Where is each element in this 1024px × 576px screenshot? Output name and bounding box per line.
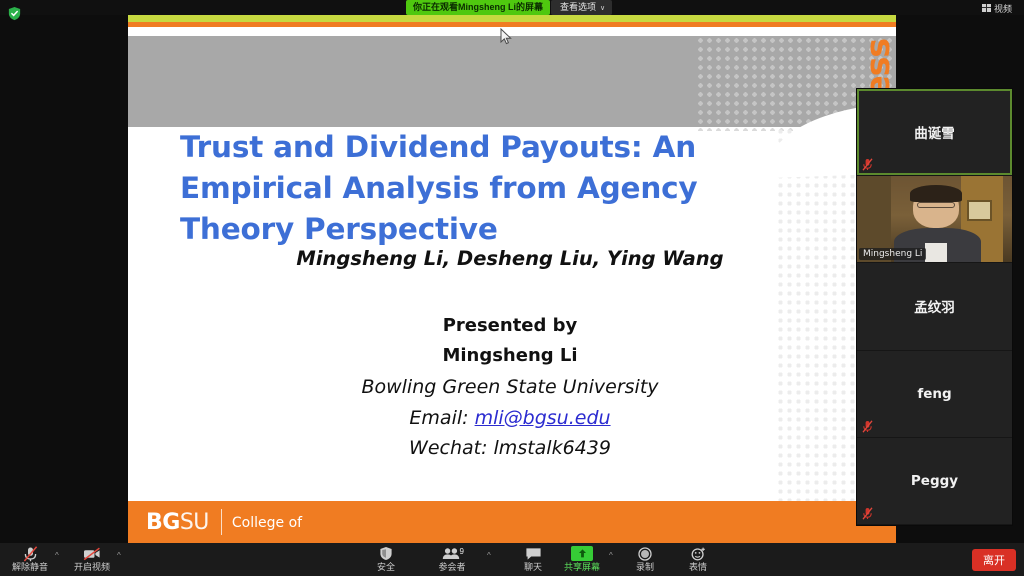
- mouse-cursor: [500, 28, 512, 46]
- bgsu-logo: BGSU: [146, 510, 209, 535]
- shared-screen-area[interactable]: beyond business Trust and Dividend Payou…: [128, 15, 896, 543]
- start-video-button[interactable]: 开启视频: [72, 546, 112, 574]
- participant-filmstrip[interactable]: 曲诞雪 Mingsheng Li: [857, 89, 1012, 525]
- presentation-slide: beyond business Trust and Dividend Payou…: [128, 15, 896, 543]
- record-circle-icon: [638, 546, 652, 561]
- top-bar: 你正在观看Mingsheng Li的屏幕 查看选项∨ 视频: [0, 0, 1024, 15]
- video-layout-label: 视频: [994, 2, 1012, 15]
- slide-title: Trust and Dividend Payouts: An Empirical…: [180, 127, 795, 250]
- participants-label: 参会者: [438, 562, 465, 572]
- record-label: 录制: [636, 562, 654, 572]
- participant-name: 曲诞雪: [914, 122, 955, 142]
- camera-off-icon: [83, 546, 101, 561]
- participant-name: feng: [917, 386, 951, 402]
- slide-presented-block: Presented by Mingsheng Li: [180, 311, 840, 371]
- video-person-hair: [910, 185, 963, 202]
- record-button[interactable]: 录制: [625, 546, 665, 574]
- leave-meeting-button[interactable]: 离开: [972, 549, 1016, 571]
- shield-icon: [379, 546, 393, 561]
- microphone-muted-icon: [862, 420, 873, 433]
- slide-white-band: [128, 27, 896, 36]
- slide-footer-bar: BGSU College of: [128, 501, 896, 543]
- share-screen-label: 共享屏幕: [564, 562, 600, 572]
- reactions-button[interactable]: 表情: [678, 546, 718, 574]
- unmute-label: 解除静音: [12, 562, 48, 572]
- slide-authors: Mingsheng Li, Desheng Liu, Ying Wang: [180, 247, 840, 270]
- bgsu-logo-bold: BG: [146, 510, 180, 535]
- email-link[interactable]: mli@bgsu.edu: [475, 407, 611, 429]
- people-icon: 9: [442, 546, 462, 561]
- unmute-button[interactable]: 解除静音: [10, 546, 50, 574]
- participant-tile[interactable]: 孟纹羽: [857, 263, 1012, 350]
- share-screen-up-arrow-icon: [571, 546, 593, 561]
- participant-tile[interactable]: feng: [857, 351, 1012, 438]
- slide-green-band: [128, 15, 896, 22]
- video-person-glasses: [917, 202, 954, 208]
- share-screen-button[interactable]: 共享屏幕: [562, 546, 602, 574]
- wechat-line: Wechat: lmstalk6439: [180, 433, 840, 464]
- share-options-caret[interactable]: ^: [609, 551, 613, 560]
- video-person-shirt: [925, 243, 947, 262]
- security-label: 安全: [377, 562, 395, 572]
- presented-by-label: Presented by: [180, 311, 840, 341]
- left-letterbox: [0, 15, 128, 543]
- security-shield-icon[interactable]: [6, 5, 22, 21]
- view-options-label: 查看选项: [560, 2, 596, 12]
- affiliation-line: Bowling Green State University: [180, 372, 840, 403]
- participant-tile[interactable]: Mingsheng Li: [857, 176, 1012, 263]
- chat-button[interactable]: 聊天: [513, 546, 553, 574]
- microphone-muted-icon: [862, 507, 873, 520]
- participant-name: Mingsheng Li: [859, 248, 926, 260]
- video-bg-picture-frame: [967, 200, 992, 221]
- footer-divider: [221, 509, 222, 535]
- microphone-muted-icon: [862, 158, 873, 171]
- participant-tile[interactable]: 曲诞雪: [857, 89, 1012, 176]
- audio-options-caret[interactable]: ^: [55, 551, 59, 560]
- participant-tile[interactable]: Peggy: [857, 438, 1012, 525]
- participant-name: Peggy: [911, 473, 958, 489]
- presenter-name: Mingsheng Li: [180, 341, 840, 371]
- zoom-meeting-window: 你正在观看Mingsheng Li的屏幕 查看选项∨ 视频 beyond bus…: [0, 0, 1024, 576]
- start-video-label: 开启视频: [74, 562, 110, 572]
- chat-label: 聊天: [524, 562, 542, 572]
- participants-caret[interactable]: ^: [487, 551, 491, 560]
- email-label: Email:: [409, 407, 468, 429]
- chat-bubble-icon: [525, 546, 542, 561]
- reactions-label: 表情: [689, 562, 707, 572]
- view-options-button[interactable]: 查看选项∨: [551, 0, 612, 15]
- footer-college-text: College of: [232, 516, 302, 531]
- security-button[interactable]: 安全: [366, 546, 406, 574]
- viewing-screen-notice: 你正在观看Mingsheng Li的屏幕: [406, 0, 550, 15]
- smiley-reaction-icon: [691, 546, 706, 561]
- microphone-muted-icon: [23, 546, 38, 561]
- slide-contact-block: Bowling Green State University Email: ml…: [180, 372, 840, 464]
- meeting-toolbar: 解除静音 ^ 开启视频 ^ 安全: [0, 543, 1024, 576]
- grid-view-icon: [982, 4, 991, 12]
- bgsu-logo-thin: SU: [180, 510, 209, 535]
- video-options-caret[interactable]: ^: [117, 551, 121, 560]
- chevron-down-icon: ∨: [600, 5, 605, 12]
- participants-count: 9: [460, 547, 464, 556]
- participants-button[interactable]: 9 参会者: [432, 546, 472, 574]
- participant-name: 孟纹羽: [914, 296, 955, 316]
- email-line: Email: mli@bgsu.edu: [180, 403, 840, 434]
- video-layout-toggle[interactable]: 视频: [978, 1, 1016, 15]
